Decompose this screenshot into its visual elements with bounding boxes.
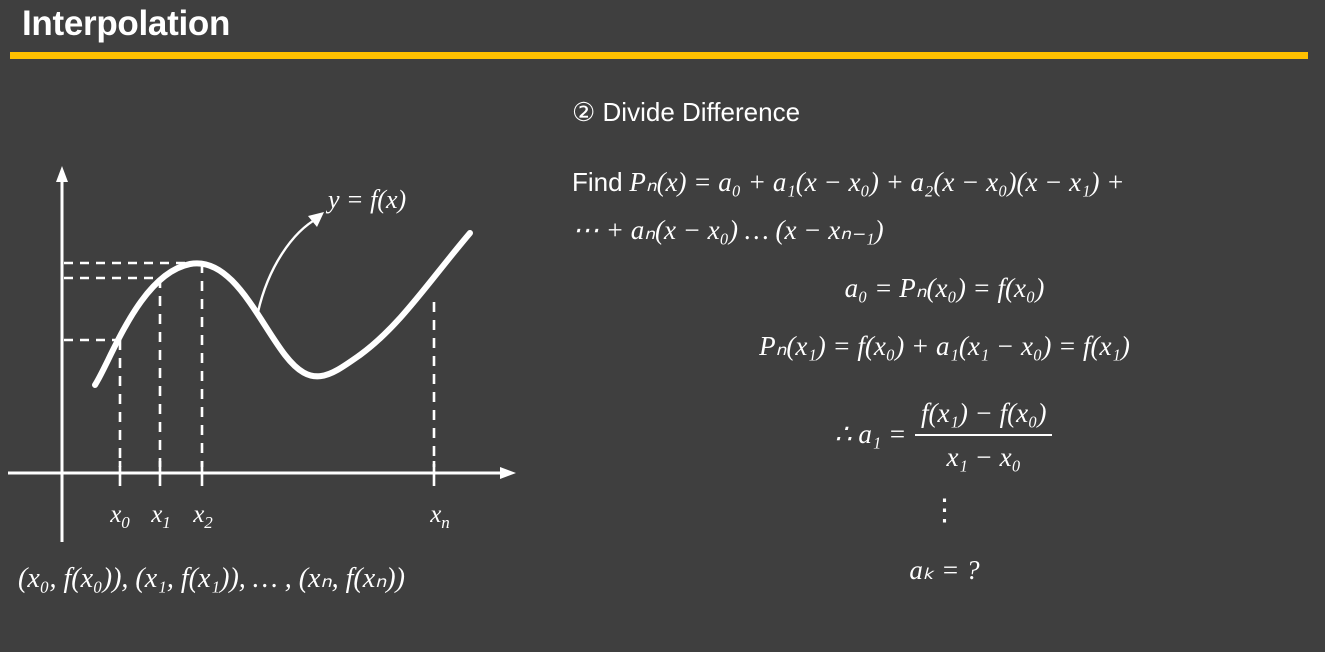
- horizontal-guide-lines: [64, 263, 200, 340]
- curve-label: y = f(x): [325, 185, 406, 214]
- function-graph: y = f(x) x0 x1 x2 xn: [0, 150, 540, 550]
- polynomial-expression-part2: ⋯ + aₙ(x − x₀) … (x − xₙ₋₁): [572, 215, 884, 245]
- equation-a1-solved: ∴ a₁ = f(x₁) − f(x₀) x₁ − x₀: [572, 396, 1317, 478]
- equation-a0: a₀ = Pₙ(x₀) = f(x₀): [572, 264, 1317, 312]
- title-accent-rule: [10, 52, 1308, 59]
- equation-ak-question: aₖ = ?: [572, 546, 1317, 594]
- derivation-column: ② Divide Difference Find Pₙ(x) = a₀ + a₁…: [572, 96, 1317, 594]
- equation-pn-x1: Pₙ(x₁) = f(x₀) + a₁(x₁ − x₀) = f(x₁): [572, 322, 1317, 370]
- slide-canvas: Interpolation: [0, 0, 1325, 652]
- page-title: Interpolation: [22, 4, 230, 44]
- fraction: f(x₁) − f(x₀) x₁ − x₀: [915, 394, 1052, 476]
- fraction-denominator: x₁ − x₀: [915, 436, 1052, 476]
- x-tick-label-xn: xn: [429, 501, 450, 532]
- find-label: Find: [572, 167, 623, 197]
- fraction-numerator: f(x₁) − f(x₀): [915, 394, 1052, 436]
- therefore-a1-lead: ∴ a₁ =: [835, 419, 907, 449]
- x-tick-label-x1: x1: [150, 501, 171, 532]
- find-line-1: Find Pₙ(x) = a₀ + a₁(x − x₀) + a₂(x − x₀…: [572, 158, 1317, 206]
- sample-points-expression: (x₀, f(x₀)), (x₁, f(x₁)), … , (xₙ, f(xₙ)…: [18, 561, 405, 595]
- y-axis: [56, 166, 68, 542]
- section-heading: ② Divide Difference: [572, 96, 1317, 128]
- function-curve: [95, 233, 470, 385]
- annotation-arrow: [258, 212, 324, 312]
- find-line-2: ⋯ + aₙ(x − x₀) … (x − xₙ₋₁): [572, 206, 1317, 254]
- x-axis: [8, 467, 516, 479]
- vertical-guide-lines: [120, 263, 434, 467]
- x-tick-label-x0: x0: [109, 501, 130, 532]
- polynomial-expression-part1: Pₙ(x) = a₀ + a₁(x − x₀) + a₂(x − x₀)(x −…: [629, 167, 1124, 197]
- graph-svg: y = f(x) x0 x1 x2 xn: [0, 150, 540, 550]
- vertical-ellipsis: ⋮: [572, 494, 1317, 528]
- x-tick-label-x2: x2: [192, 501, 213, 532]
